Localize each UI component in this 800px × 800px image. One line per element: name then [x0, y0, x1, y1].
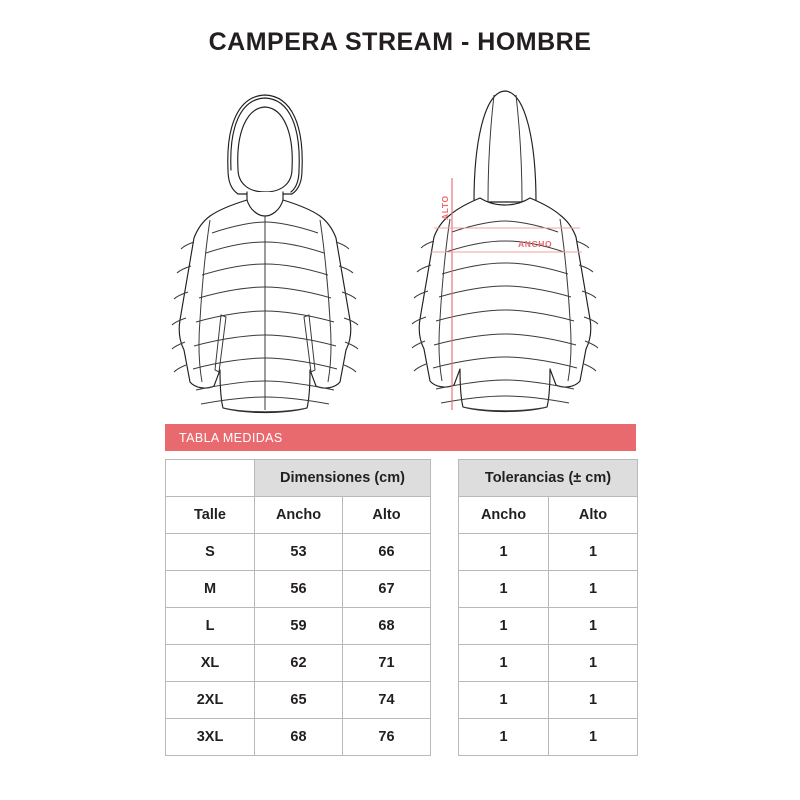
cell-alto: 71	[343, 645, 431, 682]
cell-ancho: 68	[255, 719, 343, 756]
column-header-row: Ancho Alto	[459, 497, 638, 534]
table-banner-label: TABLA MEDIDAS	[179, 431, 283, 445]
table-row: 1 1	[459, 719, 638, 756]
group-header-row: Tolerancias (± cm)	[459, 460, 638, 497]
table-row: 1 1	[459, 682, 638, 719]
cell-tol-alto: 1	[549, 534, 638, 571]
dimensiones-group-header: Dimensiones (cm)	[255, 460, 431, 497]
tables-row: Dimensiones (cm) Talle Ancho Alto S 53 6…	[165, 459, 636, 756]
cell-tol-ancho: 1	[459, 682, 549, 719]
table-row: 1 1	[459, 571, 638, 608]
cell-tol-alto: 1	[549, 682, 638, 719]
table-row: XL 62 71	[166, 645, 431, 682]
cell-talle: L	[166, 608, 255, 645]
tolerancias-group-header: Tolerancias (± cm)	[459, 460, 638, 497]
table-row: 1 1	[459, 608, 638, 645]
column-header-row: Talle Ancho Alto	[166, 497, 431, 534]
cell-tol-ancho: 1	[459, 645, 549, 682]
cell-talle: M	[166, 571, 255, 608]
cell-tol-alto: 1	[549, 719, 638, 756]
cell-ancho: 53	[255, 534, 343, 571]
table-banner: TABLA MEDIDAS	[165, 424, 636, 451]
page-title: CAMPERA STREAM - HOMBRE	[0, 28, 800, 57]
header-tol-alto: Alto	[549, 497, 638, 534]
cell-ancho: 59	[255, 608, 343, 645]
alto-measure-label: ALTO	[440, 195, 450, 220]
cell-alto: 68	[343, 608, 431, 645]
empty-corner-cell	[166, 460, 255, 497]
header-tol-ancho: Ancho	[459, 497, 549, 534]
cell-tol-ancho: 1	[459, 719, 549, 756]
cell-tol-ancho: 1	[459, 534, 549, 571]
jacket-front-view	[150, 70, 380, 420]
cell-tol-alto: 1	[549, 571, 638, 608]
tolerancias-table: Tolerancias (± cm) Ancho Alto 1 1 1 1 1 …	[458, 459, 638, 756]
table-row: 2XL 65 74	[166, 682, 431, 719]
jacket-back-view: ALTO ANCHO	[390, 70, 620, 420]
cell-alto: 67	[343, 571, 431, 608]
cell-alto: 74	[343, 682, 431, 719]
header-talle: Talle	[166, 497, 255, 534]
cell-talle: XL	[166, 645, 255, 682]
header-ancho: Ancho	[255, 497, 343, 534]
table-row: 1 1	[459, 534, 638, 571]
table-row: 1 1	[459, 645, 638, 682]
jacket-illustrations: ALTO ANCHO	[150, 70, 650, 415]
cell-tol-alto: 1	[549, 645, 638, 682]
cell-ancho: 56	[255, 571, 343, 608]
header-alto: Alto	[343, 497, 431, 534]
table-row: 3XL 68 76	[166, 719, 431, 756]
table-row: S 53 66	[166, 534, 431, 571]
cell-alto: 66	[343, 534, 431, 571]
group-header-row: Dimensiones (cm)	[166, 460, 431, 497]
cell-talle: S	[166, 534, 255, 571]
cell-ancho: 65	[255, 682, 343, 719]
cell-tol-ancho: 1	[459, 571, 549, 608]
ancho-measure-label: ANCHO	[518, 239, 552, 249]
cell-talle: 3XL	[166, 719, 255, 756]
dimensiones-table: Dimensiones (cm) Talle Ancho Alto S 53 6…	[165, 459, 431, 756]
cell-tol-alto: 1	[549, 608, 638, 645]
cell-alto: 76	[343, 719, 431, 756]
cell-talle: 2XL	[166, 682, 255, 719]
cell-tol-ancho: 1	[459, 608, 549, 645]
cell-ancho: 62	[255, 645, 343, 682]
measurements-table-section: TABLA MEDIDAS Dimensiones (cm) Talle Anc…	[165, 424, 636, 756]
table-row: L 59 68	[166, 608, 431, 645]
table-row: M 56 67	[166, 571, 431, 608]
